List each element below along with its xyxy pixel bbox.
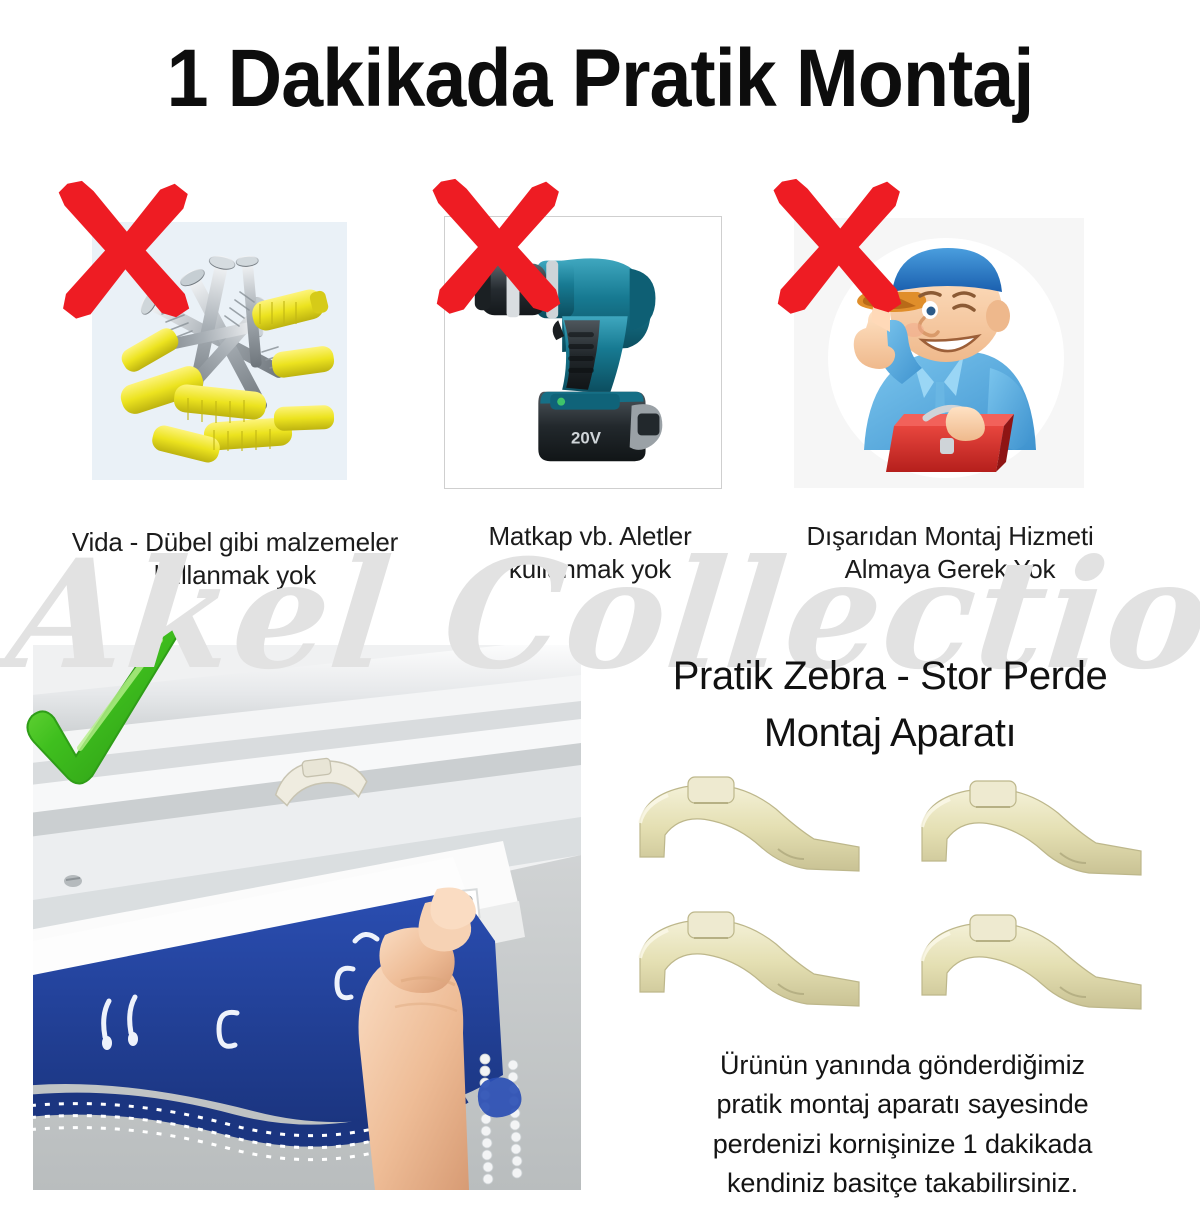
apparatus-description: Ürünün yanında gönderdiğimiz pratik mont…: [620, 1046, 1185, 1204]
description-line-4: kendiniz basitçe takabilirsiniz.: [620, 1164, 1185, 1203]
screws-and-wall-plugs-photo: [92, 222, 347, 480]
caption-line-1: Dışarıdan Montaj Hizmeti: [760, 520, 1140, 553]
mounting-clips-grid: [622, 775, 1182, 1035]
hand-installing-blind-bracket-on-rail-photo: [33, 645, 581, 1190]
plastic-mounting-clip: [914, 913, 1149, 1025]
caption-line-2: Almaya Gerek Yok: [760, 553, 1140, 586]
caption-line-2: kullanmak yok: [440, 553, 740, 586]
product-infographic: 1 Dakikada Pratik Montaj Akel Collection: [0, 0, 1200, 1224]
apparatus-heading: Pratik Zebra - Stor Perde Montaj Aparatı: [600, 648, 1180, 762]
caption-line-2: kullanmak yok: [20, 559, 450, 592]
apparatus-heading-line-2: Montaj Aparatı: [600, 705, 1180, 762]
handyman-cartoon-photo: [794, 218, 1084, 488]
plastic-mounting-clip: [632, 775, 867, 887]
caption-line-1: Matkap vb. Aletler: [440, 520, 740, 553]
card-screws-caption: Vida - Dübel gibi malzemeler kullanmak y…: [20, 526, 450, 593]
cordless-drill-photo: 20V: [444, 216, 722, 489]
page-title: 1 Dakikada Pratik Montaj: [48, 36, 1152, 122]
battery-voltage-label: 20V: [571, 428, 602, 447]
description-line-3: perdenizi kornişinize 1 dakikada: [620, 1125, 1185, 1164]
apparatus-heading-line-1: Pratik Zebra - Stor Perde: [600, 648, 1180, 705]
caption-line-1: Vida - Dübel gibi malzemeler: [20, 526, 450, 559]
no-need-cards-row: Vida - Dübel gibi malzemeler kullanmak y…: [0, 168, 1200, 588]
card-drill-caption: Matkap vb. Aletler kullanmak yok: [440, 520, 740, 587]
plastic-mounting-clip: [632, 910, 867, 1022]
description-line-1: Ürünün yanında gönderdiğimiz: [620, 1046, 1185, 1085]
plastic-mounting-clip: [914, 779, 1149, 891]
description-line-2: pratik montaj aparatı sayesinde: [620, 1085, 1185, 1124]
card-installer-caption: Dışarıdan Montaj Hizmeti Almaya Gerek Yo…: [760, 520, 1140, 587]
